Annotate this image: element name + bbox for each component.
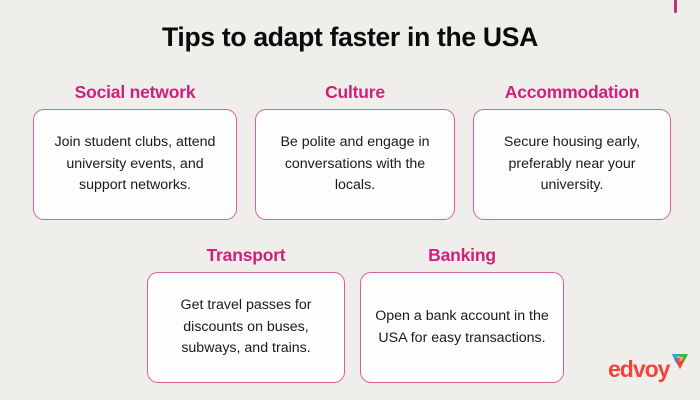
tip-heading-accommodation: Accommodation: [473, 82, 671, 102]
tip-box-banking: Open a bank account in the USA for easy …: [360, 272, 564, 383]
tip-heading-transport: Transport: [147, 245, 345, 265]
tip-card-social-network: Social network Join student clubs, atten…: [33, 82, 237, 220]
edvoy-triangle-mark-icon: [670, 352, 690, 372]
edvoy-wordmark: edvoy: [608, 358, 669, 381]
tip-box-accommodation: Secure housing early, preferably near yo…: [473, 109, 671, 220]
corner-tick-decoration: [674, 0, 677, 13]
tip-body-banking: Open a bank account in the USA for easy …: [371, 306, 553, 349]
tip-body-culture: Be polite and engage in conversations wi…: [266, 132, 444, 197]
tip-body-social-network: Join student clubs, attend university ev…: [44, 132, 226, 197]
tip-heading-social-network: Social network: [33, 82, 237, 102]
page-title: Tips to adapt faster in the USA: [0, 23, 700, 52]
infographic-canvas: Tips to adapt faster in the USA Social n…: [0, 0, 700, 400]
tip-body-transport: Get travel passes for discounts on buses…: [158, 295, 334, 360]
tip-card-culture: Culture Be polite and engage in conversa…: [255, 82, 455, 220]
tip-card-banking: Banking Open a bank account in the USA f…: [360, 245, 564, 383]
tip-heading-banking: Banking: [360, 245, 564, 265]
edvoy-logo: edvoy: [608, 352, 690, 381]
tip-body-accommodation: Secure housing early, preferably near yo…: [484, 132, 660, 197]
tip-box-transport: Get travel passes for discounts on buses…: [147, 272, 345, 383]
tip-card-transport: Transport Get travel passes for discount…: [147, 245, 345, 383]
tip-box-social-network: Join student clubs, attend university ev…: [33, 109, 237, 220]
tip-heading-culture: Culture: [255, 82, 455, 102]
tip-card-accommodation: Accommodation Secure housing early, pref…: [473, 82, 671, 220]
tip-box-culture: Be polite and engage in conversations wi…: [255, 109, 455, 220]
